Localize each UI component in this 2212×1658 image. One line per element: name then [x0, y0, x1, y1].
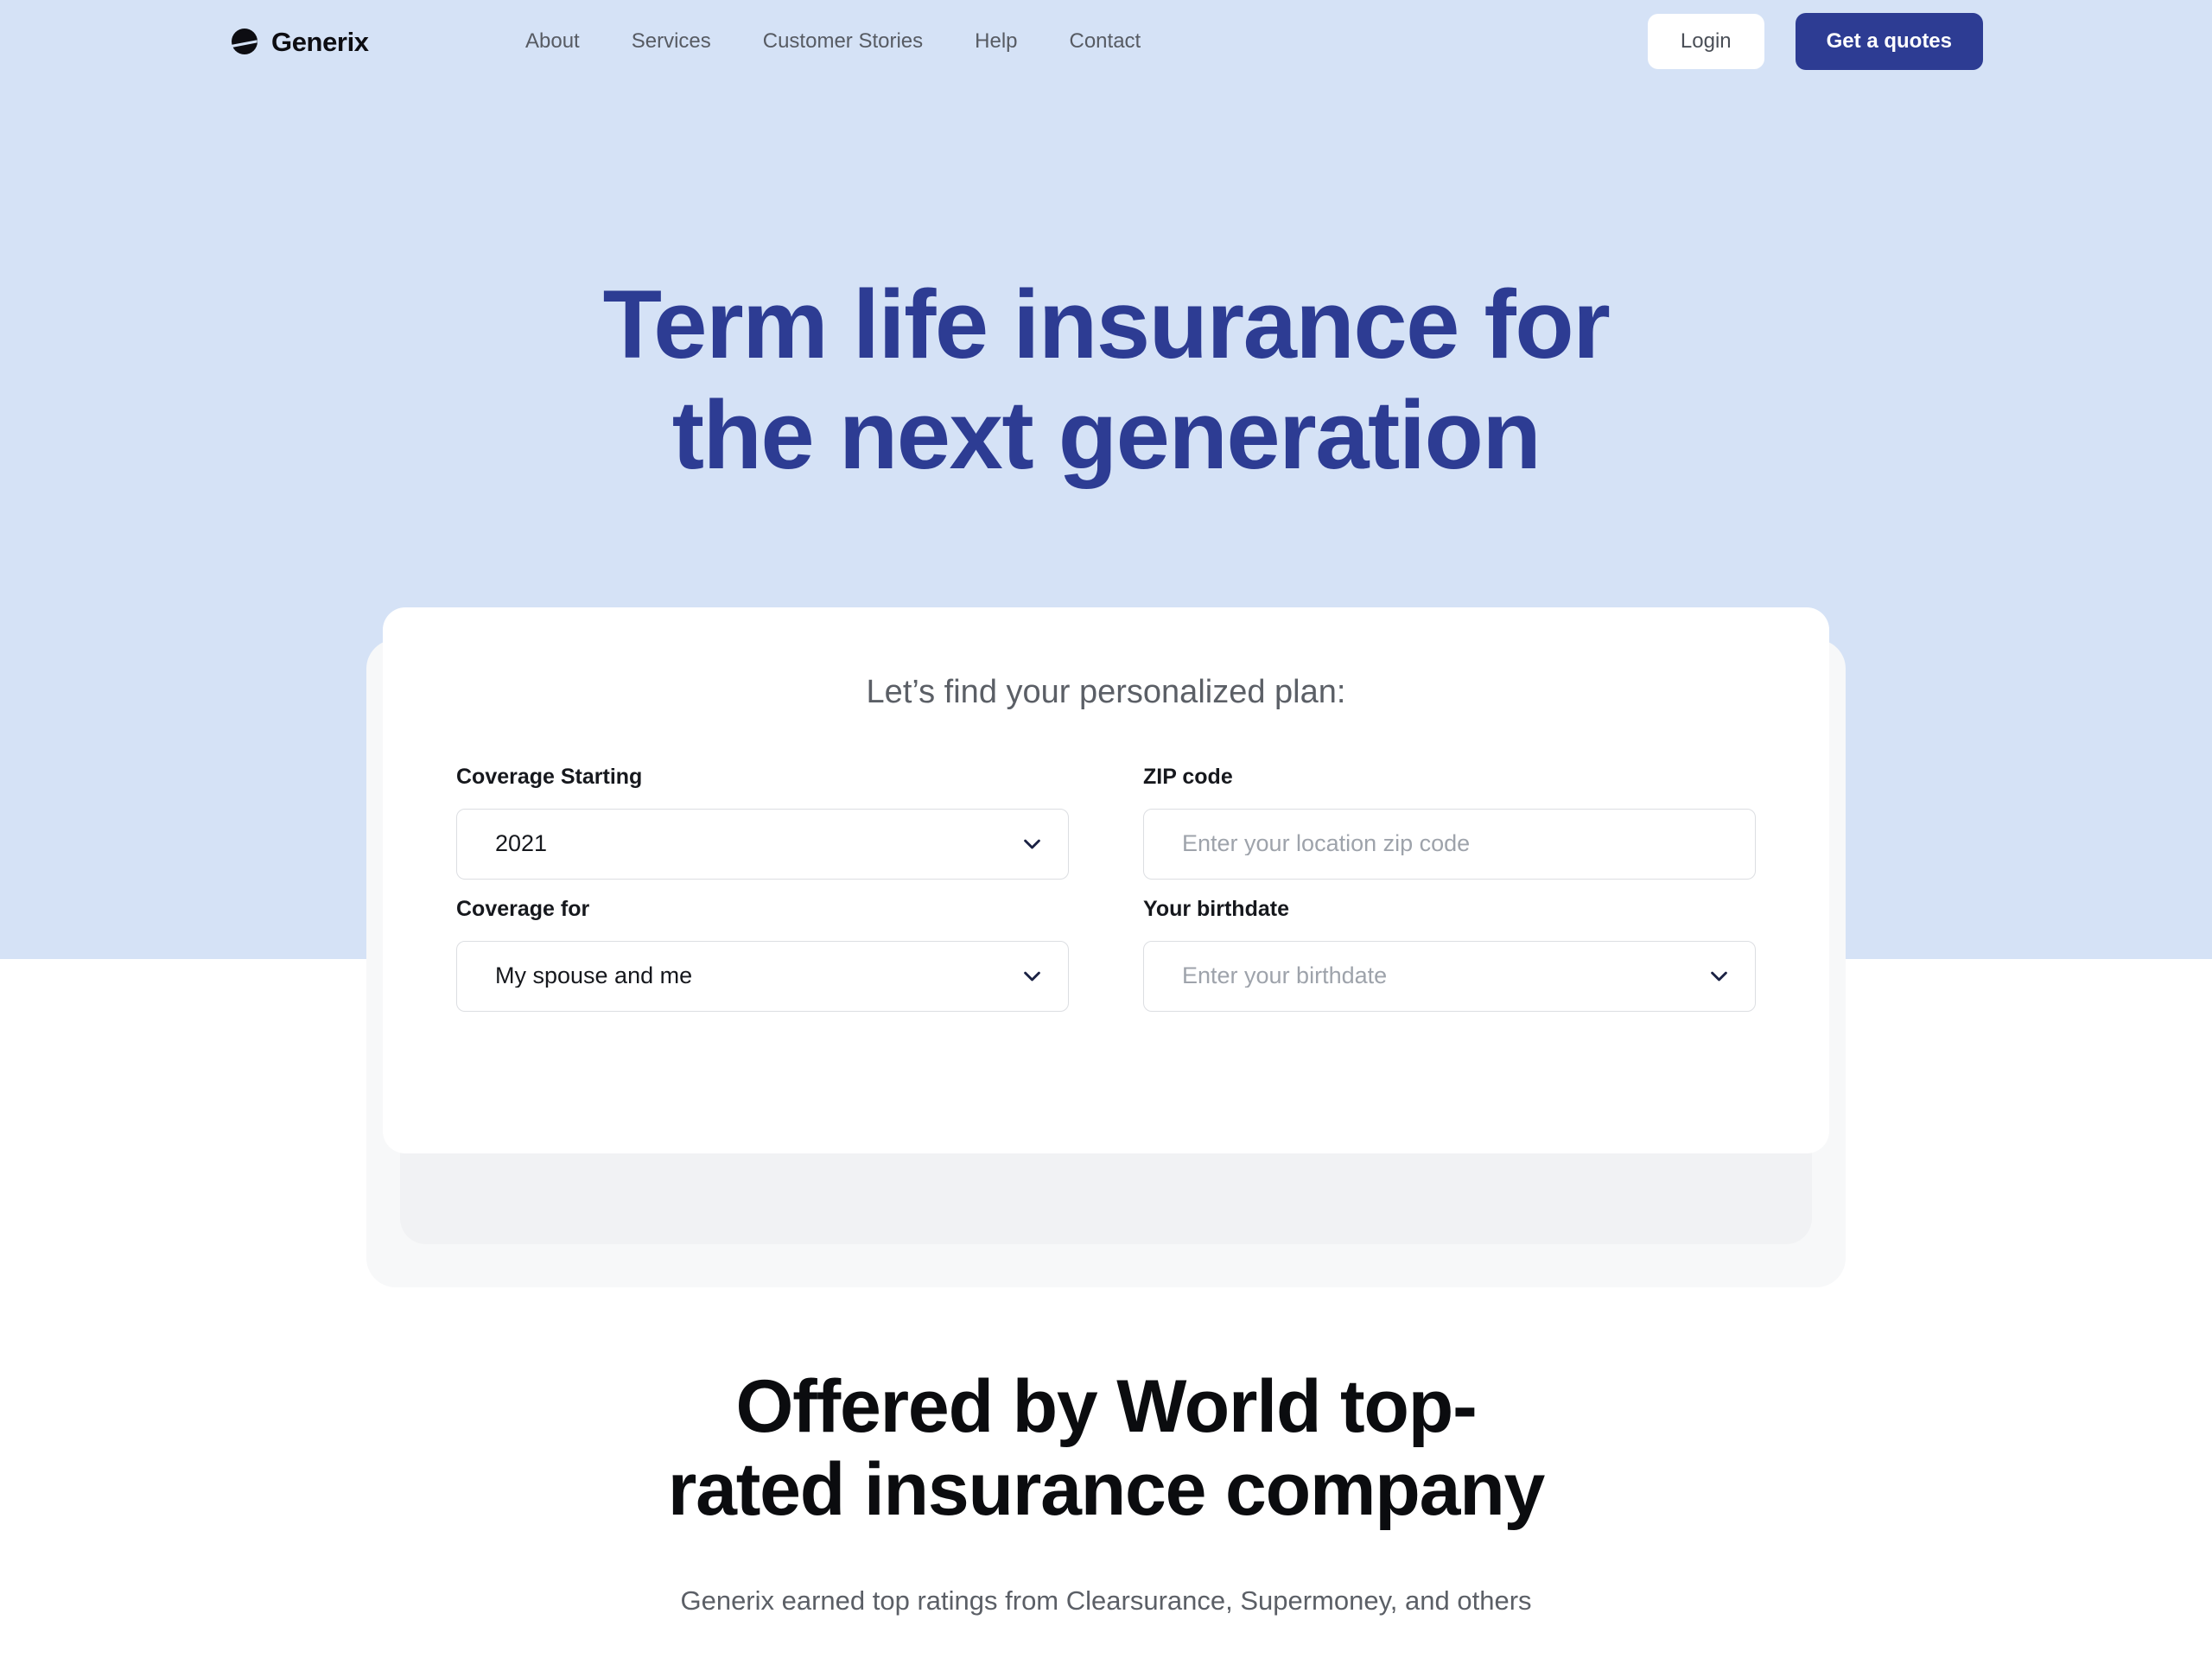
site-header: Generix About Services Customer Stories …: [0, 0, 2212, 83]
chevron-down-icon: [1707, 964, 1731, 988]
nav-item-help[interactable]: Help: [975, 22, 1017, 60]
offered-by-title-line-1: Offered by World top-: [735, 1365, 1476, 1448]
nav-item-customer-stories[interactable]: Customer Stories: [763, 22, 923, 60]
zip-code-placeholder: Enter your location zip code: [1182, 832, 1731, 855]
coverage-starting-value: 2021: [495, 832, 1020, 855]
coverage-starting-select[interactable]: 2021: [456, 809, 1069, 880]
hero-headline: Term life insurance for the next generat…: [0, 270, 2212, 490]
offered-by-title-line-2: rated insurance company: [668, 1448, 1544, 1531]
offered-by-title: Offered by World top- rated insurance co…: [0, 1365, 2212, 1532]
hero-headline-line-1: Term life insurance for: [603, 270, 1610, 378]
plan-card-title: Let’s find your personalized plan:: [383, 673, 1829, 713]
field-zip-code: ZIP code Enter your location zip code: [1143, 766, 1756, 880]
nav-item-about[interactable]: About: [525, 22, 580, 60]
nav-item-services[interactable]: Services: [632, 22, 711, 60]
brand-logo[interactable]: Generix: [230, 27, 369, 56]
birthdate-placeholder: Enter your birthdate: [1182, 964, 1707, 988]
offered-by-section: Offered by World top- rated insurance co…: [0, 1365, 2212, 1618]
circle-split-logo-icon: [230, 27, 259, 56]
header-actions: Login Get a quotes: [1648, 13, 1983, 70]
zip-code-input[interactable]: Enter your location zip code: [1143, 809, 1756, 880]
brand-name: Generix: [271, 29, 369, 55]
birthdate-select[interactable]: Enter your birthdate: [1143, 941, 1756, 1012]
nav-item-contact[interactable]: Contact: [1070, 22, 1141, 60]
field-coverage-for: Coverage for My spouse and me: [456, 899, 1069, 1012]
get-a-quotes-button[interactable]: Get a quotes: [1796, 13, 1983, 70]
label-coverage-for: Coverage for: [456, 899, 1069, 920]
hero-headline-line-2: the next generation: [672, 381, 1541, 489]
coverage-for-select[interactable]: My spouse and me: [456, 941, 1069, 1012]
field-coverage-starting: Coverage Starting 2021: [456, 766, 1069, 880]
landing-page: Generix About Services Customer Stories …: [0, 0, 2212, 1658]
primary-navigation: About Services Customer Stories Help Con…: [525, 22, 1141, 60]
plan-form: Coverage Starting 2021 ZIP code Enter yo…: [456, 766, 1756, 1031]
login-button[interactable]: Login: [1648, 14, 1764, 69]
label-your-birthdate: Your birthdate: [1143, 899, 1756, 920]
field-your-birthdate: Your birthdate Enter your birthdate: [1143, 899, 1756, 1012]
plan-card-stack: Let’s find your personalized plan: Cover…: [0, 605, 2212, 1261]
label-zip-code: ZIP code: [1143, 766, 1756, 788]
label-coverage-starting: Coverage Starting: [456, 766, 1069, 788]
personalized-plan-card: Let’s find your personalized plan: Cover…: [383, 607, 1829, 1153]
coverage-for-value: My spouse and me: [495, 964, 1020, 988]
chevron-down-icon: [1020, 964, 1044, 988]
offered-by-subtitle: Generix earned top ratings from Clearsur…: [0, 1584, 2212, 1618]
chevron-down-icon: [1020, 832, 1044, 855]
